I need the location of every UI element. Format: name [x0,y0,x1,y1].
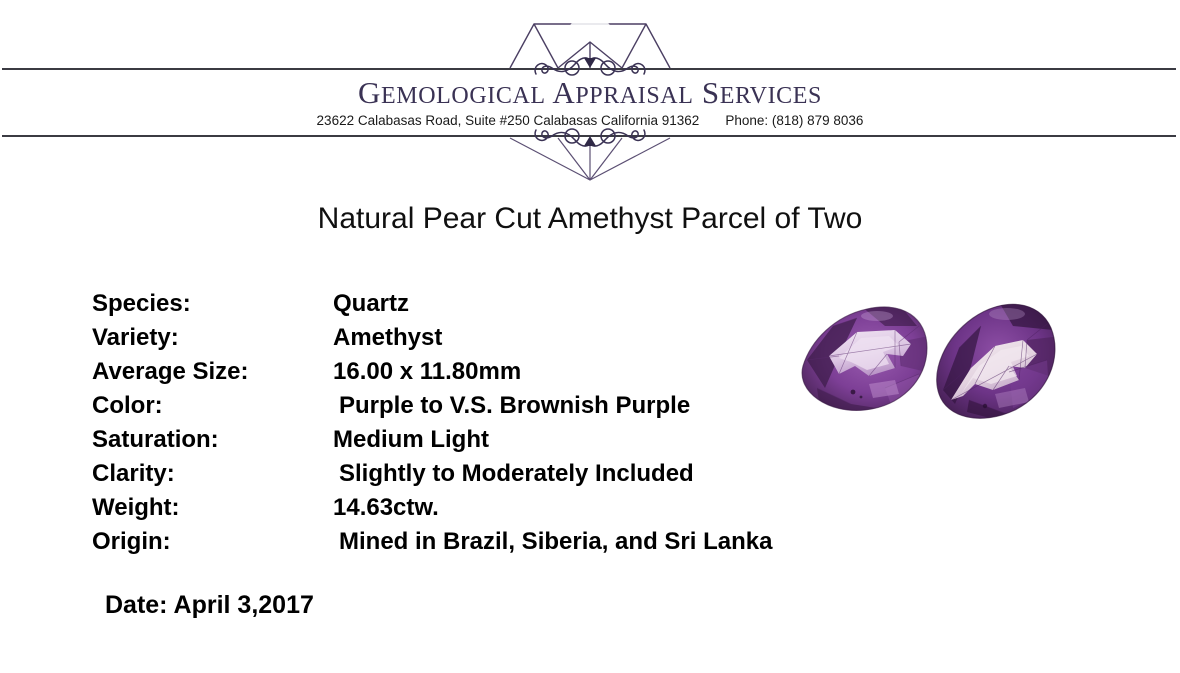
spec-row-color: Color: Purple to V.S. Brownish Purple [92,392,892,426]
company-name-initial: S [702,75,720,110]
company-name-smallcaps: ERVICES [720,83,822,109]
header-bottom-divider [2,135,1176,137]
spec-value: Medium Light [333,426,489,454]
spec-row-weight: Weight: 14.63ctw. [92,494,892,528]
spec-label: Species: [92,290,191,318]
spec-label: Clarity: [92,460,175,488]
spec-label: Average Size: [92,358,249,386]
company-name: GEMOLOGICAL APPRAISAL SERVICES [0,76,1180,113]
gem-right [937,302,1061,422]
header-top-divider [2,68,1176,70]
spec-value: 14.63ctw. [333,494,439,522]
spec-row-saturation: Saturation: Medium Light [92,426,892,460]
specification-list: Species: Quartz Variety: Amethyst Averag… [92,290,892,562]
company-name-word-3: SERVICES [702,75,822,110]
spec-value: Purple to V.S. Brownish Purple [339,392,690,420]
company-name-word-2: APPRAISAL [552,75,693,110]
spec-label: Color: [92,392,163,420]
gem-left [802,304,929,416]
company-name-initial: G [358,75,381,110]
amethyst-pear-pair-photo [799,296,1063,426]
spec-label: Weight: [92,494,180,522]
spec-label: Origin: [92,528,171,556]
spec-value: Amethyst [333,324,442,352]
appraisal-certificate-page: GEMOLOGICAL APPRAISAL SERVICES 23622 Cal… [0,0,1180,673]
address-text: 23622 Calabasas Road, Suite #250 Calabas… [317,113,700,128]
spec-value: Quartz [333,290,409,318]
spec-row-clarity: Clarity: Slightly to Moderately Included [92,460,892,494]
phone-text: Phone: (818) 879 8036 [725,113,863,128]
company-name-smallcaps: PPRAISAL [575,83,693,109]
spec-value: Mined in Brazil, Siberia, and Sri Lanka [339,528,772,556]
spec-row-variety: Variety: Amethyst [92,324,892,358]
spec-value: Slightly to Moderately Included [339,460,694,488]
spec-row-species: Species: Quartz [92,290,892,324]
contact-line: 23622 Calabasas Road, Suite #250 Calabas… [0,113,1180,129]
company-name-smallcaps: EMOLOGICAL [381,83,546,109]
spec-label: Saturation: [92,426,219,454]
spec-value: 16.00 x 11.80mm [333,358,521,386]
spec-row-average-size: Average Size: 16.00 x 11.80mm [92,358,892,392]
appraisal-date: Date: April 3,2017 [105,591,314,620]
company-name-word-1: GEMOLOGICAL [358,75,546,110]
company-name-initial: A [552,75,575,110]
spec-label: Variety: [92,324,179,352]
report-title: Natural Pear Cut Amethyst Parcel of Two [0,200,1180,238]
spec-row-origin: Origin: Mined in Brazil, Siberia, and Sr… [92,528,892,562]
